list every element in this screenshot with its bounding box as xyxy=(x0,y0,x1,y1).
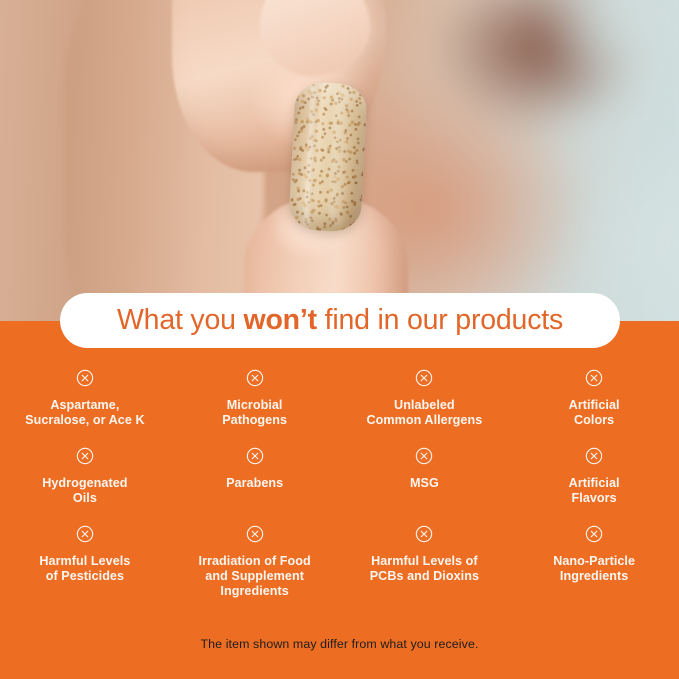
exclusion-item: MSG xyxy=(340,447,510,525)
exclusion-label: Hydrogenated Oils xyxy=(42,476,127,506)
exclusion-item: Nano-Particle Ingredients xyxy=(509,525,679,603)
exclusion-label: Harmful Levels of PCBs and Dioxins xyxy=(370,554,479,584)
exclusion-item: Aspartame, Sucralose, or Ace K xyxy=(0,369,170,447)
product-info-graphic: Aspartame, Sucralose, or Ace K Microbial… xyxy=(0,0,679,679)
exclusion-label: Microbial Pathogens xyxy=(222,398,287,428)
exclusion-label: MSG xyxy=(410,476,439,491)
exclusion-item: Harmful Levels of PCBs and Dioxins xyxy=(340,525,510,603)
exclusion-label: Parabens xyxy=(226,476,283,491)
circle-x-icon xyxy=(415,525,433,543)
exclusion-label: Harmful Levels of Pesticides xyxy=(39,554,130,584)
circle-x-icon xyxy=(585,369,603,387)
exclusions-grid: Aspartame, Sucralose, or Ace K Microbial… xyxy=(0,369,679,603)
circle-x-icon xyxy=(246,447,264,465)
headline-title: What you won’t find in our products xyxy=(117,304,563,337)
circle-x-icon xyxy=(76,525,94,543)
headline-banner: What you won’t find in our products xyxy=(60,293,620,348)
headline-emphasis: won’t xyxy=(244,304,317,336)
exclusion-item: Hydrogenated Oils xyxy=(0,447,170,525)
circle-x-icon xyxy=(246,369,264,387)
circle-x-icon xyxy=(415,447,433,465)
exclusion-item: Microbial Pathogens xyxy=(170,369,340,447)
circle-x-icon xyxy=(585,447,603,465)
exclusion-label: Unlabeled Common Allergens xyxy=(366,398,482,428)
exclusion-label: Artificial Colors xyxy=(569,398,620,428)
exclusion-label: Artificial Flavors xyxy=(569,476,620,506)
tablet-speckle-texture xyxy=(288,81,368,233)
exclusion-item: Artificial Flavors xyxy=(509,447,679,525)
hand-holding-tablet-photo xyxy=(0,0,679,322)
circle-x-icon xyxy=(76,447,94,465)
headline-suffix: find in our products xyxy=(317,304,563,336)
headline-prefix: What you xyxy=(117,304,244,336)
exclusions-panel: Aspartame, Sucralose, or Ace K Microbial… xyxy=(0,321,679,679)
exclusion-label: Irradiation of Food and Supplement Ingre… xyxy=(199,554,311,599)
exclusion-item: Unlabeled Common Allergens xyxy=(340,369,510,447)
circle-x-icon xyxy=(76,369,94,387)
circle-x-icon xyxy=(246,525,264,543)
exclusion-item: Artificial Colors xyxy=(509,369,679,447)
circle-x-icon xyxy=(585,525,603,543)
exclusion-label: Nano-Particle Ingredients xyxy=(553,554,635,584)
circle-x-icon xyxy=(415,369,433,387)
exclusion-label: Aspartame, Sucralose, or Ace K xyxy=(25,398,144,428)
supplement-tablet xyxy=(288,81,368,233)
exclusion-item: Harmful Levels of Pesticides xyxy=(0,525,170,603)
disclaimer-text: The item shown may differ from what you … xyxy=(0,637,679,651)
exclusion-item: Parabens xyxy=(170,447,340,525)
exclusion-item: Irradiation of Food and Supplement Ingre… xyxy=(170,525,340,603)
